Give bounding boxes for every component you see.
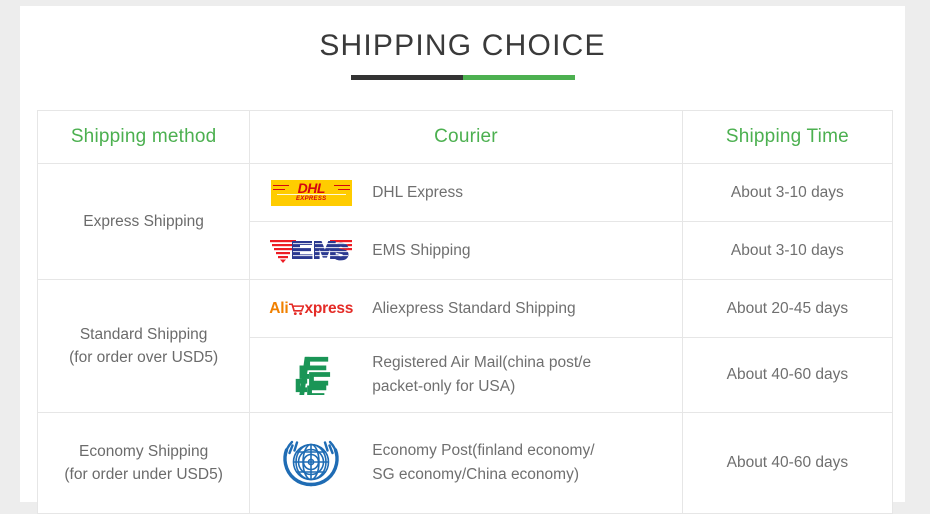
column-header-shipping-method: Shipping method	[38, 111, 250, 164]
page-title: SHIPPING CHOICE	[20, 28, 905, 64]
title-underline-left	[351, 75, 463, 80]
title-underline-right	[463, 75, 575, 80]
dhl-logo: DHL EXPRESS	[271, 180, 352, 206]
logo-slot: DHL EXPRESS	[250, 180, 372, 206]
title-underline	[351, 75, 575, 80]
column-header-shipping-time: Shipping Time	[682, 111, 892, 164]
cell-time-aliexpress: About 20-45 days	[682, 280, 892, 338]
cell-method-standard-shipping: Standard Shipping (for order over USD5)	[38, 280, 250, 413]
method-line-1: Standard Shipping	[38, 323, 249, 346]
cell-courier-ems: EMS Shipping	[250, 222, 683, 280]
method-line-2: (for order over USD5)	[38, 346, 249, 369]
cell-time-dhl: About 3-10 days	[682, 164, 892, 222]
courier-line-2: SG economy/China economy)	[372, 463, 594, 487]
courier-label-dhl: DHL Express	[372, 181, 471, 205]
un-economy-post-logo	[280, 435, 342, 491]
cell-courier-china-post: Registered Air Mail(china post/e packet-…	[250, 338, 683, 413]
cell-method-economy-shipping: Economy Shipping (for order under USD5)	[38, 413, 250, 514]
table-row: Express Shipping DHL	[38, 164, 893, 222]
page-root: SHIPPING CHOICE Shipping method Courier …	[0, 0, 930, 508]
page-title-block: SHIPPING CHOICE	[20, 28, 905, 80]
logo-slot	[250, 237, 372, 264]
cell-time-ems: About 3-10 days	[682, 222, 892, 280]
shipping-choice-card: SHIPPING CHOICE Shipping method Courier …	[20, 6, 905, 502]
aliexpress-logo: Ali xpress	[269, 300, 353, 317]
logo-slot	[250, 435, 372, 491]
method-line-1: Economy Shipping	[38, 440, 249, 463]
cell-time-china-post: About 40-60 days	[682, 338, 892, 413]
logo-slot: Ali xpress	[250, 300, 372, 317]
dhl-logo-subword: EXPRESS	[271, 196, 352, 203]
cell-courier-aliexpress: Ali xpress	[250, 280, 683, 338]
cell-time-economy-post: About 40-60 days	[682, 413, 892, 514]
courier-line-2: packet-only for USA)	[372, 375, 591, 399]
cell-courier-economy-post: Economy Post(finland economy/ SG economy…	[250, 413, 683, 514]
shipping-table: Shipping method Courier Shipping Time Ex…	[37, 110, 893, 514]
courier-line-1: Registered Air Mail(china post/e	[372, 351, 591, 375]
aliexpress-logo-prefix: Ali	[269, 300, 288, 317]
shopping-cart-icon	[289, 302, 304, 316]
courier-label-china-post: Registered Air Mail(china post/e packet-…	[372, 351, 599, 399]
column-header-courier: Courier	[250, 111, 683, 164]
aliexpress-logo-suffix: xpress	[304, 300, 353, 317]
courier-label-economy-post: Economy Post(finland economy/ SG economy…	[372, 439, 602, 487]
cell-method-express-shipping: Express Shipping	[38, 164, 250, 280]
courier-label-ems: EMS Shipping	[372, 239, 478, 263]
cell-courier-dhl: DHL EXPRESS DHL Express	[250, 164, 683, 222]
method-line-2: (for order under USD5)	[38, 463, 249, 486]
china-post-logo	[290, 353, 332, 397]
ems-logo	[270, 237, 352, 264]
courier-label-aliexpress: Aliexpress Standard Shipping	[372, 297, 583, 321]
table-header-row: Shipping method Courier Shipping Time	[38, 111, 893, 164]
logo-slot	[250, 353, 372, 397]
table-row: Economy Shipping (for order under USD5)	[38, 413, 893, 514]
table-row: Standard Shipping (for order over USD5) …	[38, 280, 893, 338]
courier-line-1: Economy Post(finland economy/	[372, 439, 594, 463]
